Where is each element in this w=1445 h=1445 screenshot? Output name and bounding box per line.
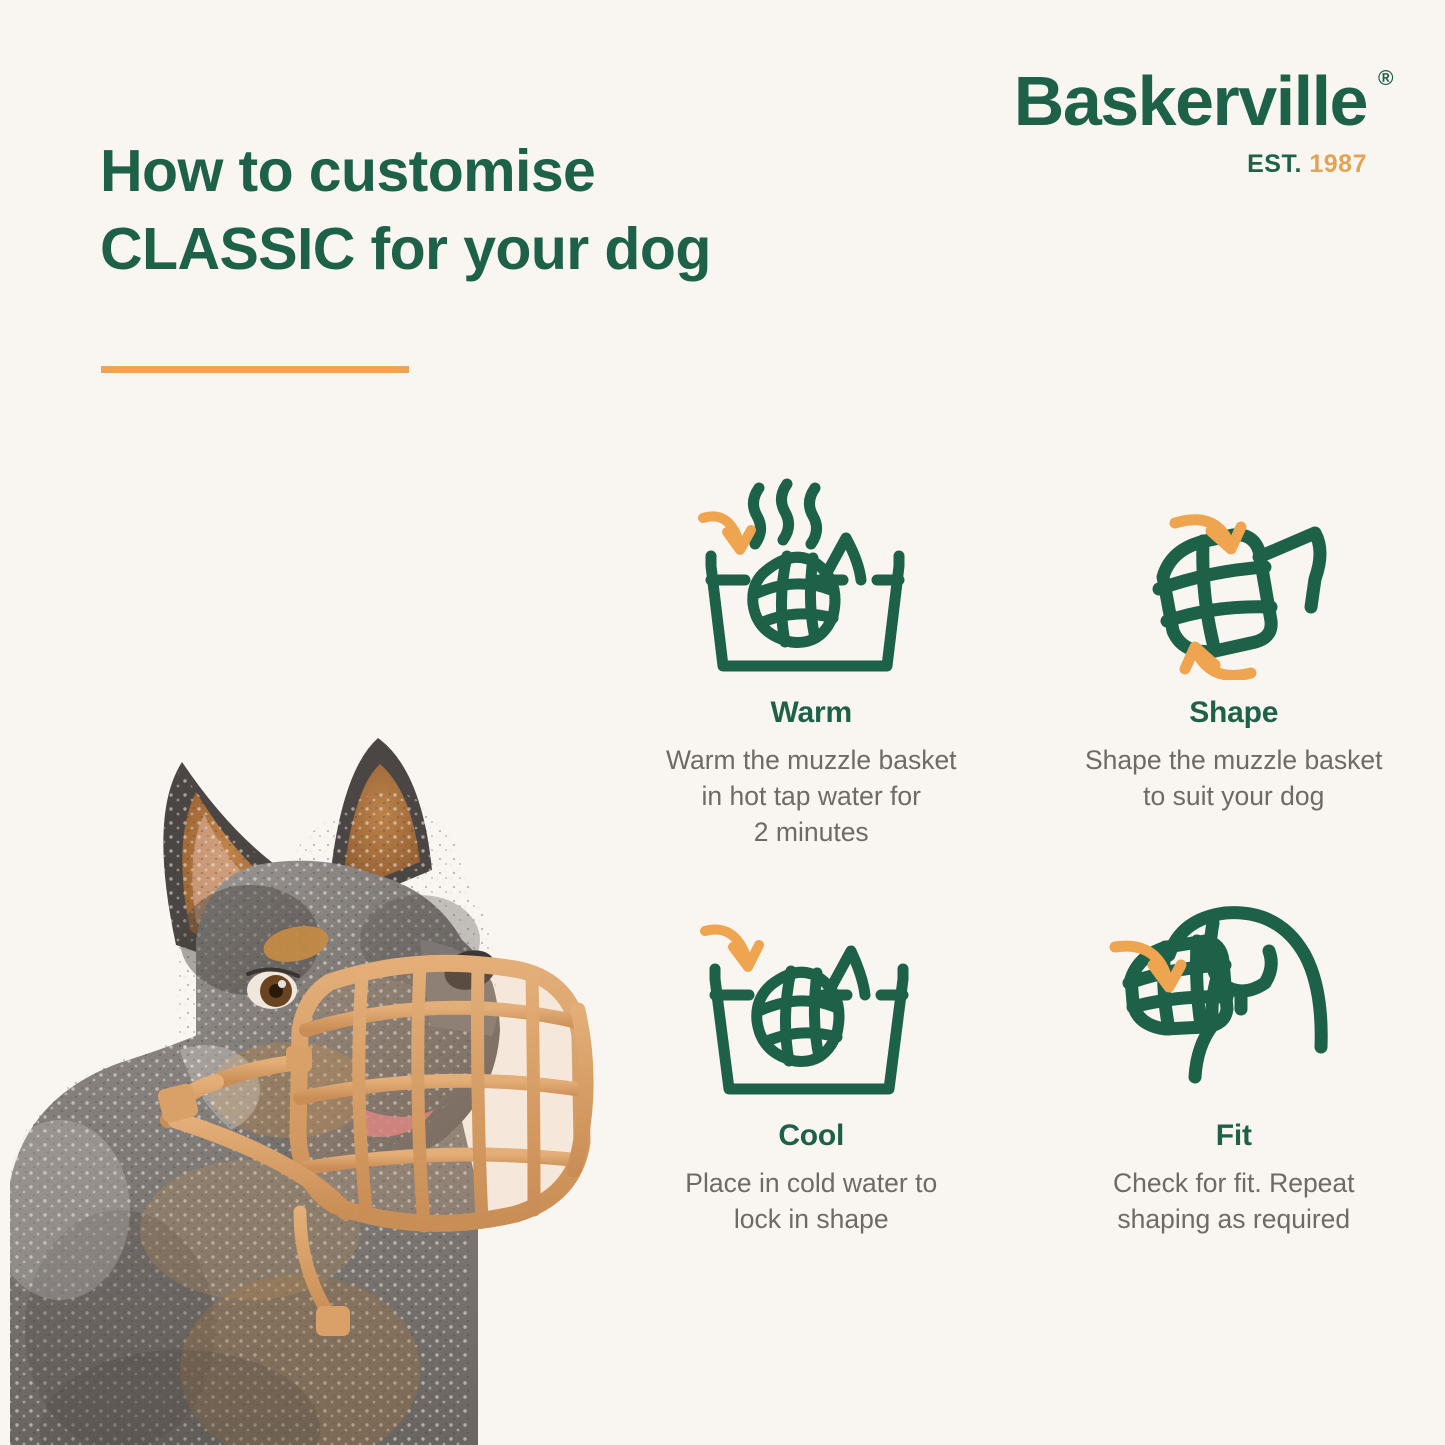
title-underline-rule: [101, 366, 409, 373]
steam-lines-icon: [754, 484, 817, 544]
dog-photo: [0, 470, 600, 1445]
infographic-canvas: Baskerville ® EST. 1987 How to customise…: [0, 0, 1445, 1445]
page-title: How to customise CLASSIC for your dog: [100, 133, 860, 289]
fit-dog-head-icon: [1109, 878, 1359, 1103]
step-shape-desc-line-1: Shape the muzzle basket: [1085, 742, 1383, 778]
arrow-in-icon: [703, 516, 751, 550]
step-shape-desc-line-2: to suit your dog: [1085, 778, 1383, 814]
step-shape: Shape Shape the muzzle basket to suit yo…: [1023, 455, 1445, 878]
submerged-basket-icon: [753, 556, 835, 642]
step-warm-title: Warm: [771, 696, 852, 730]
brand-logo: Baskerville ® EST. 1987: [1014, 66, 1367, 177]
brand-wordmark-text: Baskerville: [1014, 62, 1367, 140]
brand-wordmark: Baskerville ®: [1014, 66, 1367, 136]
step-warm-desc-line-1: Warm the muzzle basket: [666, 742, 957, 778]
step-fit-description: Check for fit. Repeat shaping as require…: [1113, 1165, 1355, 1237]
registered-trademark-icon: ®: [1378, 68, 1392, 89]
step-cool-desc-line-2: lock in shape: [685, 1201, 937, 1237]
step-cool-title: Cool: [778, 1119, 844, 1153]
step-warm-desc-line-3: 2 minutes: [666, 814, 957, 850]
arrow-in-icon: [705, 929, 759, 966]
step-shape-description: Shape the muzzle basket to suit your dog: [1085, 742, 1383, 814]
brand-est-year: 1987: [1309, 150, 1367, 178]
brand-established: EST. 1987: [1014, 152, 1367, 177]
step-warm: Warm Warm the muzzle basket in hot tap w…: [600, 455, 1023, 878]
submerged-basket-icon: [757, 971, 839, 1061]
step-cool-description: Place in cold water to lock in shape: [685, 1165, 937, 1237]
step-fit-title: Fit: [1216, 1119, 1252, 1153]
steps-grid: Warm Warm the muzzle basket in hot tap w…: [600, 455, 1445, 1300]
step-cool: Cool Place in cold water to lock in shap…: [600, 878, 1023, 1301]
page-title-line-1: How to customise: [100, 133, 860, 211]
step-warm-description: Warm the muzzle basket in hot tap water …: [666, 742, 957, 850]
shape-muzzle-icon: [1119, 455, 1349, 680]
step-fit-desc-line-1: Check for fit. Repeat: [1113, 1165, 1355, 1201]
muzzle-basket-icon: [1159, 533, 1320, 652]
dog-photo-illustration: [0, 470, 600, 1445]
step-fit: Fit Check for fit. Repeat shaping as req…: [1023, 878, 1445, 1301]
step-cool-desc-line-1: Place in cold water to: [685, 1165, 937, 1201]
step-warm-desc-line-2: in hot tap water for: [666, 778, 957, 814]
brand-est-label: EST.: [1247, 150, 1302, 178]
step-shape-title: Shape: [1189, 696, 1278, 730]
warm-basin-icon: [691, 455, 931, 680]
step-fit-desc-line-2: shaping as required: [1113, 1201, 1355, 1237]
cool-basin-icon: [691, 878, 931, 1103]
page-title-line-2: CLASSIC for your dog: [100, 211, 860, 289]
